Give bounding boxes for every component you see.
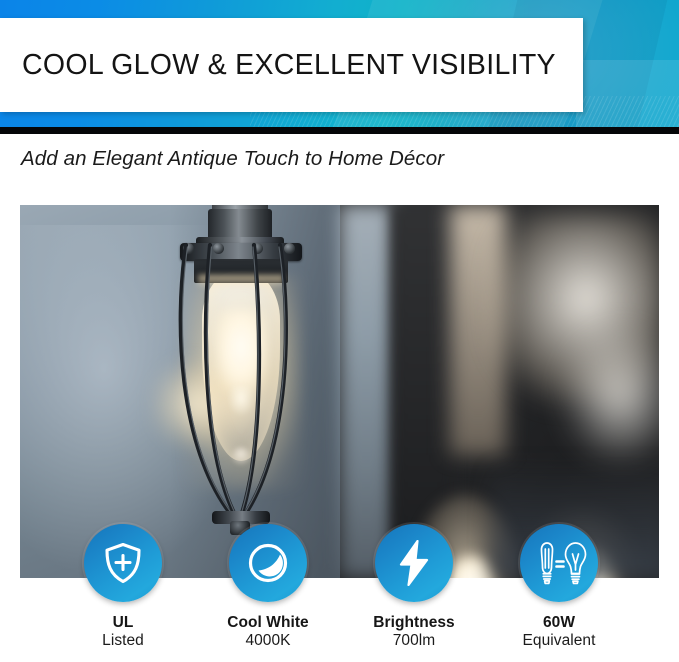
- feature-caption-secondary: 4000K: [193, 632, 343, 650]
- feature-item-ul-listed: UL Listed: [48, 524, 198, 651]
- feature-badge-circle: [520, 524, 598, 602]
- shield-plus-icon: [102, 541, 144, 585]
- lamp-cage-wires: [150, 237, 330, 537]
- feature-badge-circle: [84, 524, 162, 602]
- title-card: COOL GLOW & EXCELLENT VISIBILITY: [0, 18, 583, 112]
- banner-decor-block: [576, 60, 679, 127]
- header-banner: COOL GLOW & EXCELLENT VISIBILITY: [0, 0, 679, 127]
- caged-lamp-fixture: [150, 205, 330, 578]
- feature-caption-secondary: Listed: [48, 632, 198, 650]
- photo-background-window-light-secondary: [560, 325, 659, 465]
- feature-caption-primary: 60W: [484, 614, 634, 632]
- feature-caption: Brightness 700lm: [339, 614, 489, 651]
- feature-badge-row: UL Listed Cool White 4000K: [0, 524, 679, 662]
- header-divider-rule: [0, 127, 679, 134]
- feature-caption: 60W Equivalent: [484, 614, 634, 651]
- photo-background-warm-column: [450, 205, 506, 455]
- feature-item-brightness: Brightness 700lm: [339, 524, 489, 651]
- feature-caption-primary: UL: [48, 614, 198, 632]
- feature-caption: UL Listed: [48, 614, 198, 651]
- feature-badge-circle: [375, 524, 453, 602]
- feature-caption-primary: Brightness: [339, 614, 489, 632]
- feature-item-cool-white: Cool White 4000K: [193, 524, 343, 651]
- photo-background-dark-column: [392, 205, 454, 578]
- feature-item-wattage-equivalent: 60W Equivalent: [484, 524, 634, 651]
- photo-background-right: [340, 205, 659, 578]
- photo-background-right-strip: [340, 205, 392, 578]
- feature-badge-circle: [229, 524, 307, 602]
- feature-caption: Cool White 4000K: [193, 614, 343, 651]
- subtitle-text: Add an Elegant Antique Touch to Home Déc…: [21, 147, 641, 171]
- photo-background-window-light: [490, 213, 659, 403]
- lightning-bolt-icon: [398, 540, 430, 586]
- product-photo: [20, 205, 659, 578]
- feature-caption-secondary: Equivalent: [484, 632, 634, 650]
- feature-caption-secondary: 700lm: [339, 632, 489, 650]
- bulb-equivalence-icon: [531, 540, 587, 586]
- page-title: COOL GLOW & EXCELLENT VISIBILITY: [0, 49, 556, 82]
- feature-caption-primary: Cool White: [193, 614, 343, 632]
- cool-white-moon-icon: [246, 541, 290, 585]
